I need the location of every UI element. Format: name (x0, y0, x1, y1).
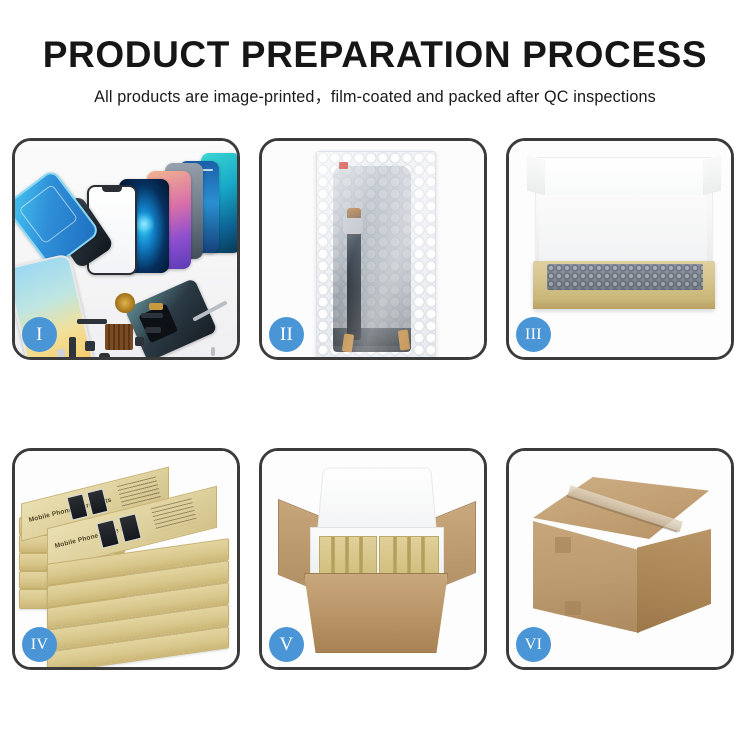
part-antenna-flex (135, 337, 144, 346)
step-panel-1[interactable]: I (12, 138, 240, 360)
white-foam-sheet (539, 195, 707, 267)
foam-lid-open (317, 468, 437, 534)
part-camera-module (85, 341, 95, 351)
part-flex-strip (77, 319, 107, 324)
part-button-flex (141, 313, 163, 318)
step-panel-4[interactable]: Mobile Phone Spare Parts Mobile Phone Sp… (12, 448, 240, 670)
step-badge-2: II (269, 317, 304, 352)
part-ic-grid (105, 324, 133, 350)
carton-label-upper (555, 537, 571, 553)
red-label-sticker (339, 162, 348, 169)
bubble-wrapped-item-in-tray (547, 264, 703, 290)
part-speaker-coil (115, 293, 135, 313)
carton-label-lower (565, 601, 581, 615)
part-sim-tray (57, 349, 65, 357)
page-subtitle: All products are image-printed，film-coat… (0, 77, 750, 108)
gold-tray-front-edge (533, 297, 715, 309)
part-gold-connector (149, 303, 163, 310)
step-badge-6: VI (516, 627, 551, 662)
page-title: PRODUCT PREPARATION PROCESS (0, 0, 750, 77)
step-panel-3[interactable]: III (506, 138, 734, 360)
step-badge-1: I (22, 317, 57, 352)
part-vibrator (99, 353, 110, 357)
screen-connector (343, 218, 363, 234)
step-panel-5[interactable]: V (259, 448, 487, 670)
step-panel-6[interactable]: VI (506, 448, 734, 670)
wrapped-screen-assembly (333, 166, 411, 346)
box-lid-flap-left (527, 155, 545, 195)
box-lid-flap-right (703, 155, 721, 195)
step-badge-4: IV (22, 627, 57, 662)
step-badge-5: V (269, 627, 304, 662)
part-home-button (145, 327, 161, 333)
step-panel-2[interactable]: II (259, 138, 487, 360)
part-power-flex (69, 337, 76, 357)
process-steps-grid: I II (12, 138, 738, 670)
part-screws (211, 347, 215, 356)
gold-box-tray (533, 261, 715, 309)
carton-body-open (304, 573, 448, 653)
page-header: PRODUCT PREPARATION PROCESS All products… (0, 0, 750, 108)
bubble-wrap-bag (316, 151, 436, 357)
product-preparation-process-page: PRODUCT PREPARATION PROCESS All products… (0, 0, 750, 750)
step-badge-3: III (516, 317, 551, 352)
